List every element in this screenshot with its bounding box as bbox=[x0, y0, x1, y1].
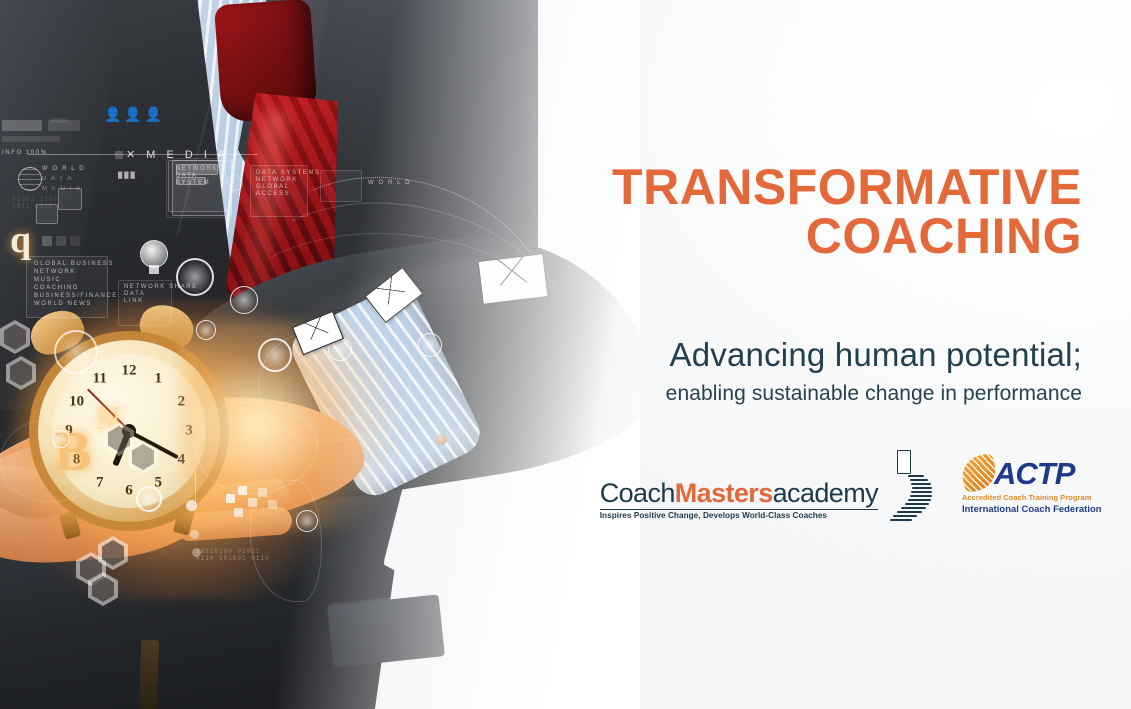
clock-flare bbox=[180, 320, 440, 530]
cma-word-coach: Coach bbox=[600, 478, 675, 508]
cma-word-line: CoachMastersacademy bbox=[600, 480, 878, 507]
fan-rays bbox=[959, 453, 999, 493]
door-icon bbox=[897, 450, 911, 474]
page-title-line1: TRANSFORMATIVE bbox=[612, 159, 1082, 215]
cma-wordmark: CoachMastersacademy Inspires Positive Ch… bbox=[600, 480, 878, 522]
cma-word-academy: academy bbox=[773, 478, 878, 508]
coach-masters-academy-logo[interactable]: CoachMastersacademy Inspires Positive Ch… bbox=[600, 448, 932, 522]
actp-federation-line: International Coach Federation bbox=[962, 503, 1082, 514]
fan-swoosh-icon bbox=[962, 456, 996, 490]
cma-word-masters: Masters bbox=[675, 478, 773, 508]
actp-logo[interactable]: ACTP Accredited Coach Training Program I… bbox=[962, 456, 1082, 522]
logo-row: CoachMastersacademy Inspires Positive Ch… bbox=[600, 448, 1082, 522]
cma-tagline: Inspires Positive Change, Develops World… bbox=[600, 511, 878, 520]
clock-center-hub bbox=[122, 424, 136, 438]
page-title: TRANSFORMATIVE COACHING bbox=[612, 163, 1082, 260]
page-title-line2: COACHING bbox=[612, 212, 1082, 261]
cma-divider bbox=[600, 509, 878, 510]
subtitle-secondary: enabling sustainable change in performan… bbox=[666, 382, 1082, 406]
actp-mark-row: ACTP bbox=[962, 456, 1082, 490]
slide-root: 12 1 2 3 4 5 6 7 8 9 10 11 bbox=[0, 0, 1131, 709]
subtitle-primary: Advancing human potential; bbox=[670, 336, 1082, 374]
actp-accreditation-line: Accredited Coach Training Program bbox=[962, 493, 1082, 502]
actp-acronym: ACTP bbox=[994, 458, 1074, 489]
spiral-staircase-icon bbox=[880, 450, 932, 522]
jacket-button-strip bbox=[139, 640, 159, 709]
jacket-pocket-flap bbox=[327, 594, 445, 667]
content-column: TRANSFORMATIVE COACHING Advancing human … bbox=[542, 0, 1082, 709]
